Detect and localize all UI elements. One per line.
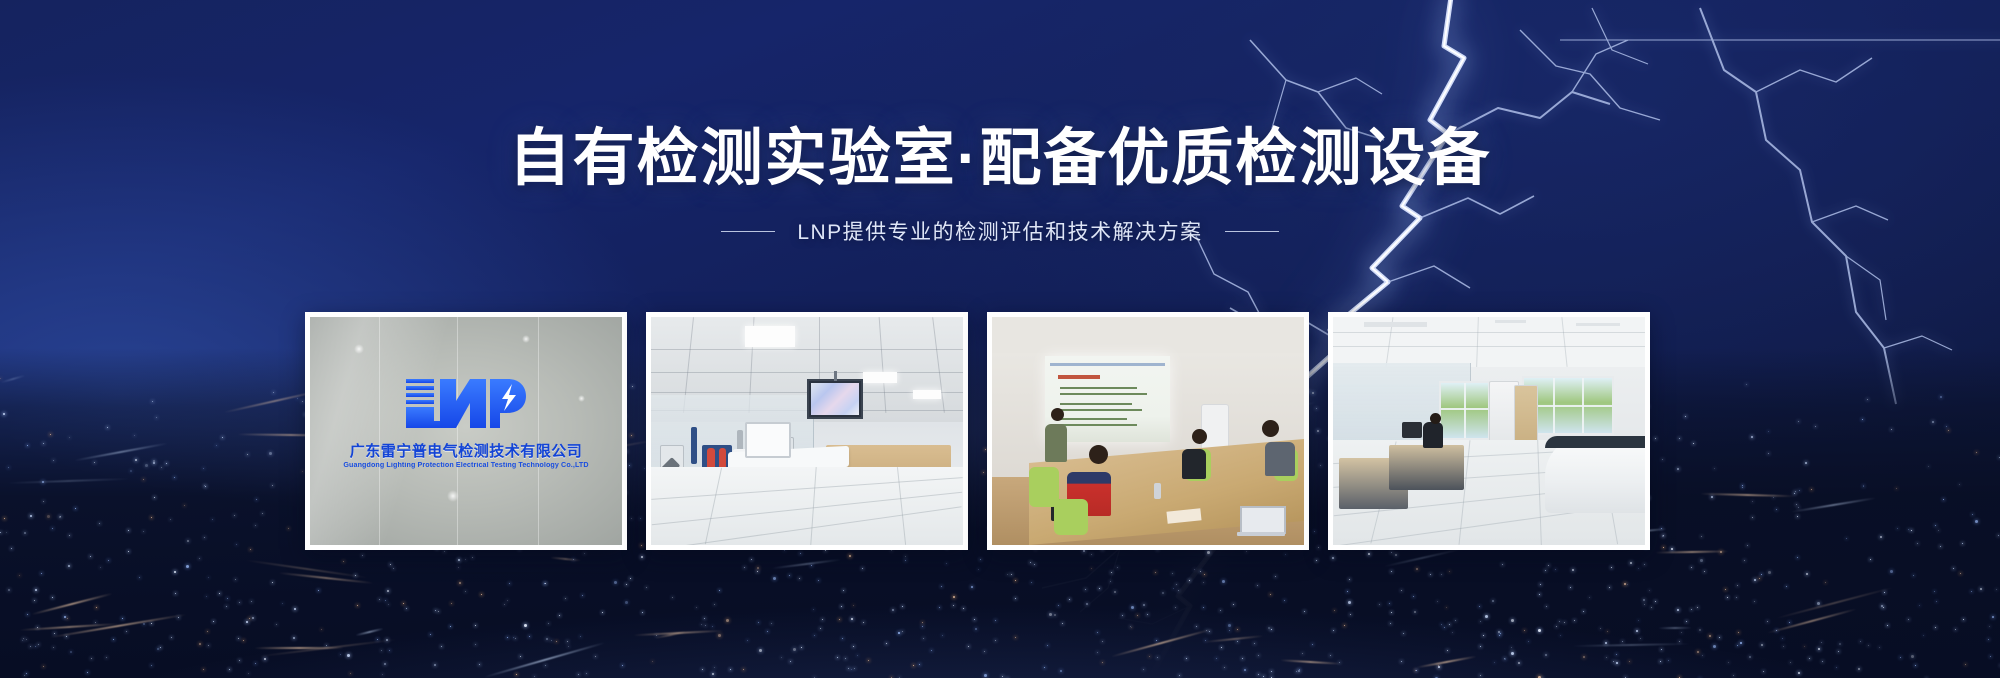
wall-monitor (807, 379, 863, 419)
photo-card-office-area[interactable] (1328, 312, 1650, 550)
photo-gallery: 广东雷宁普电气检测技术有限公司 Guangdong Lighting Prote… (305, 312, 1650, 550)
lnp-signage: 广东雷宁普电气检测技术有限公司 Guangdong Lighting Prote… (310, 373, 622, 469)
desktop-monitor (1402, 422, 1422, 438)
photo-card-meeting-room[interactable] (987, 312, 1309, 550)
photo-card-company-signage[interactable]: 广东雷宁普电气检测技术有限公司 Guangdong Lighting Prote… (305, 312, 627, 550)
lab-floor (651, 467, 963, 545)
attendee-head (1089, 445, 1108, 464)
office-ceiling (1333, 317, 1645, 367)
lnp-logo-icon (404, 373, 528, 434)
photo-office-area (1333, 317, 1645, 545)
console-monitor (745, 422, 791, 458)
photo-card-testing-laboratory[interactable] (646, 312, 968, 550)
photo-testing-laboratory (651, 317, 963, 545)
photo-meeting-room (992, 317, 1304, 545)
reception-counter (1545, 436, 1645, 514)
hero-banner: (function(){ var host=document.currentSc… (0, 0, 2000, 678)
photo-company-signage: 广东雷宁普电气检测技术有限公司 Guangdong Lighting Prote… (310, 317, 622, 545)
office-window (1439, 381, 1490, 440)
signage-company-cn: 广东雷宁普电气检测技术有限公司 (310, 440, 622, 461)
presenter-body (1045, 424, 1067, 462)
office-worker (1423, 422, 1443, 448)
laptop (1237, 506, 1285, 536)
signage-company-en: Guangdong Lighting Protection Electrical… (310, 462, 622, 469)
